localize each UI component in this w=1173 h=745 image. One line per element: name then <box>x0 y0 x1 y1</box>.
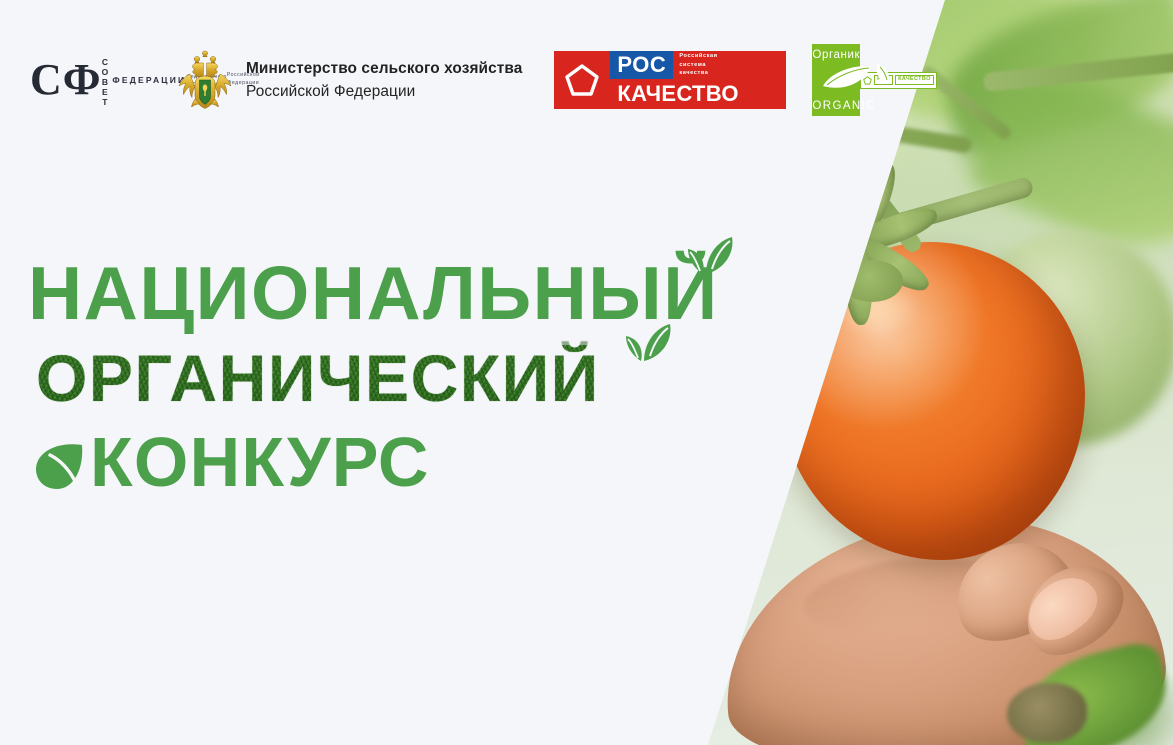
logo-organic-badge: Органик ORGANIC РОС КАЧЕСТВО <box>812 44 904 116</box>
roskachestvo-tagline: Российская система качества <box>673 51 786 79</box>
organic-leaves-icon <box>819 62 897 96</box>
two-leaves-icon <box>614 321 672 365</box>
logo-council-of-federation: СФ С О В Е Т ФЕДЕРАЦИИ Федерального Собр… <box>30 53 122 107</box>
organic-green-box: Органик ORGANIC <box>812 44 860 116</box>
roskachestvo-word-kachestvo: КАЧЕСТВО <box>610 79 786 109</box>
golden-double-headed-eagle-icon <box>177 49 233 111</box>
tagline-line-3: качества <box>679 69 786 78</box>
logo-ministry-of-agriculture: Министерство сельского хозяйства Российс… <box>177 49 522 111</box>
tomato-calyx-center <box>841 260 903 302</box>
ministry-line-1: Министерство сельского хозяйства <box>246 60 522 78</box>
ministry-text: Министерство сельского хозяйства Российс… <box>246 60 522 101</box>
organic-text-ru: Органик <box>812 44 860 61</box>
headline-line-3: КОНКУРС <box>90 427 719 497</box>
two-leaves-icon <box>676 234 734 278</box>
headline-block: НАЦИОНАЛЬНЫЙ ОРГАНИЧЕСКИЙ КОНКУРС <box>28 256 719 497</box>
roskachestvo-pentagon-mark <box>554 51 610 109</box>
dried-bud-icon <box>1007 683 1087 743</box>
headline-line-2: ОРГАНИЧЕСКИЙ <box>36 345 719 411</box>
roskachestvo-wordmark: РОС Российская система качества КАЧЕСТВО <box>610 51 786 109</box>
sf-monogram: СФ <box>30 59 102 101</box>
headline-line-3-text: КОНКУРС <box>90 423 430 501</box>
headline-line-1: НАЦИОНАЛЬНЫЙ <box>28 256 719 331</box>
ministry-line-2: Российской Федерации <box>246 83 522 101</box>
single-leaf-icon <box>32 439 90 495</box>
ripe-tomato <box>781 242 1085 560</box>
strip-word-kachestvo: КАЧЕСТВО <box>895 75 934 85</box>
sf-line-federacii: ФЕДЕРАЦИИ <box>112 75 186 85</box>
pentagon-icon <box>564 62 600 98</box>
organic-text-en: ORGANIC <box>812 100 860 112</box>
roskachestvo-top-row: РОС Российская система качества <box>610 51 786 79</box>
tagline-line-1: Российская <box>679 52 786 61</box>
logo-roskachestvo: РОС Российская система качества КАЧЕСТВО <box>554 51 786 109</box>
logo-bar: СФ С О В Е Т ФЕДЕРАЦИИ Федерального Собр… <box>30 44 904 116</box>
sf-line-sovet: С О В Е Т <box>102 57 113 107</box>
poster-root: СФ С О В Е Т ФЕДЕРАЦИИ Федерального Собр… <box>0 0 1173 745</box>
roskachestvo-word-ros: РОС <box>610 51 673 79</box>
headline-line-2-text: ОРГАНИЧЕСКИЙ <box>36 341 600 415</box>
tagline-line-2: система <box>679 61 786 70</box>
